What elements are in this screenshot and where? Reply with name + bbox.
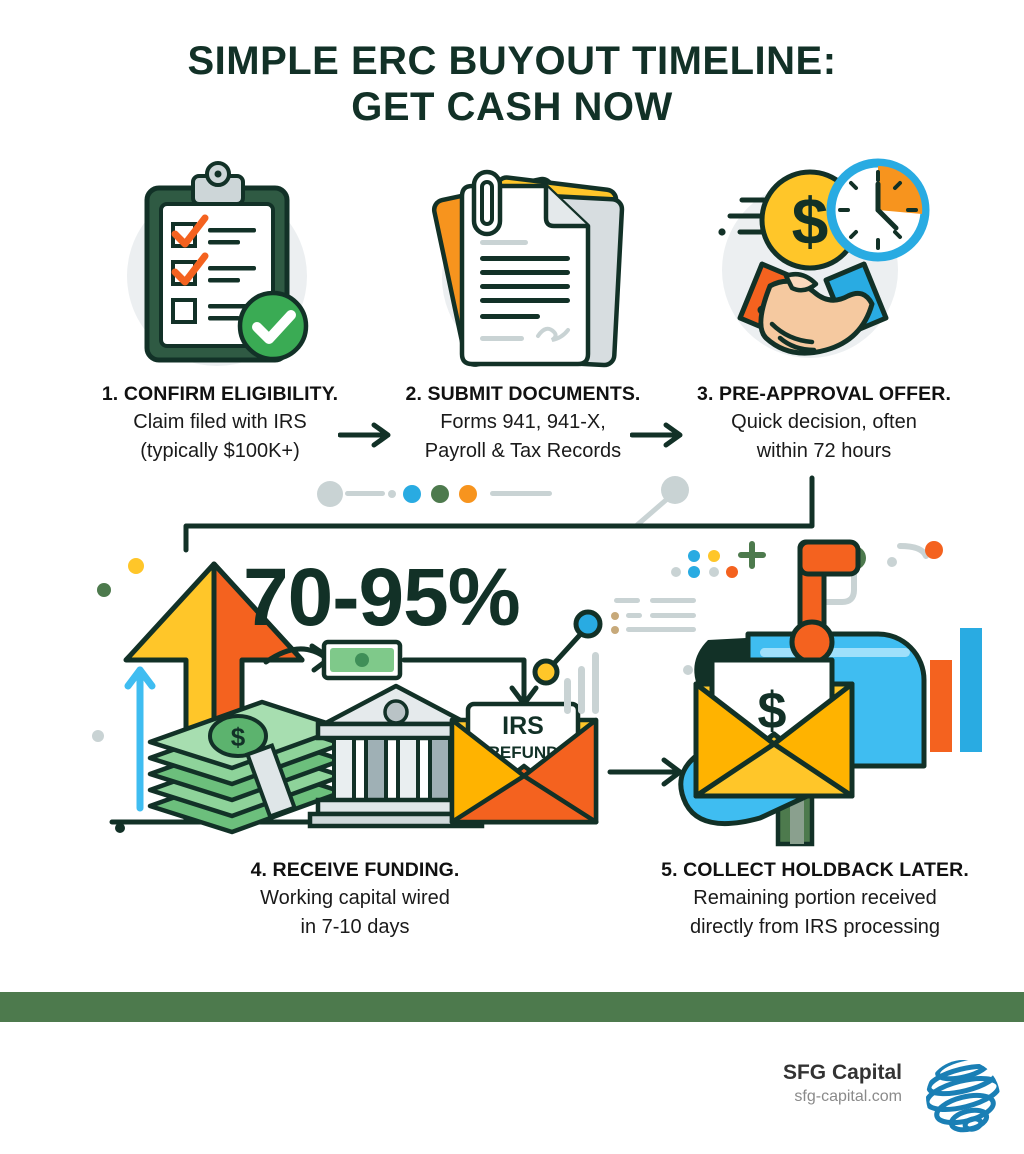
step-1-title: 1. CONFIRM ELIGIBILITY. [60, 382, 380, 407]
brand-block: SFG Capital sfg-capital.com [783, 1060, 902, 1108]
step-4-title: 4. RECEIVE FUNDING. [175, 858, 535, 883]
step-2-body-line-2: Payroll & Tax Records [368, 438, 678, 465]
handshake-money-clock-icon: $ [700, 158, 930, 383]
step-3-title: 3. PRE-APPROVAL OFFER. [664, 382, 984, 407]
page-title: SIMPLE ERC BUYOUT TIMELINE: GET CASH NOW [0, 38, 1024, 130]
step-1-body-line-2: (typically $100K+) [60, 438, 380, 465]
svg-text:$: $ [758, 682, 787, 740]
svg-text:IRS: IRS [502, 712, 544, 740]
caption-step-2: 2. SUBMIT DOCUMENTS. Forms 941, 941-X, P… [368, 382, 678, 465]
top-icon-row: $ [0, 158, 1024, 388]
svg-text:$: $ [231, 722, 246, 752]
globe-logo [924, 1058, 1002, 1136]
step-5-body-line-1: Remaining portion received [615, 885, 1015, 912]
step-2-title: 2. SUBMIT DOCUMENTS. [368, 382, 678, 407]
percentage-highlight: 70-95% [243, 557, 520, 639]
title-line-2: GET CASH NOW [0, 84, 1024, 130]
brand-name: SFG Capital [783, 1060, 902, 1086]
step-4-body-line-1: Working capital wired [175, 885, 535, 912]
step-4-body-line-2: in 7-10 days [175, 914, 535, 941]
svg-text:$: $ [792, 184, 829, 258]
step-3-body-line-2: within 72 hours [664, 438, 984, 465]
title-line-1: SIMPLE ERC BUYOUT TIMELINE: [0, 38, 1024, 84]
step-1-body-line-1: Claim filed with IRS [60, 409, 380, 436]
footer-green-band [0, 992, 1024, 1022]
caption-step-4: 4. RECEIVE FUNDING. Working capital wire… [175, 858, 535, 941]
infographic-page: SIMPLE ERC BUYOUT TIMELINE: GET CASH NOW [0, 0, 1024, 1154]
caption-step-1: 1. CONFIRM ELIGIBILITY. Claim filed with… [60, 382, 380, 465]
clipboard-checklist-icon [105, 158, 335, 383]
step-2-body-line-1: Forms 941, 941-X, [368, 409, 678, 436]
step-5-title: 5. COLLECT HOLDBACK LATER. [615, 858, 1015, 883]
step-3-body-line-1: Quick decision, often [664, 409, 984, 436]
caption-step-5: 5. COLLECT HOLDBACK LATER. Remaining por… [615, 858, 1015, 941]
step-5-body-line-2: directly from IRS processing [615, 914, 1015, 941]
caption-step-3: 3. PRE-APPROVAL OFFER. Quick decision, o… [664, 382, 984, 465]
documents-paperclip-icon [418, 158, 648, 383]
brand-url[interactable]: sfg-capital.com [783, 1086, 902, 1108]
